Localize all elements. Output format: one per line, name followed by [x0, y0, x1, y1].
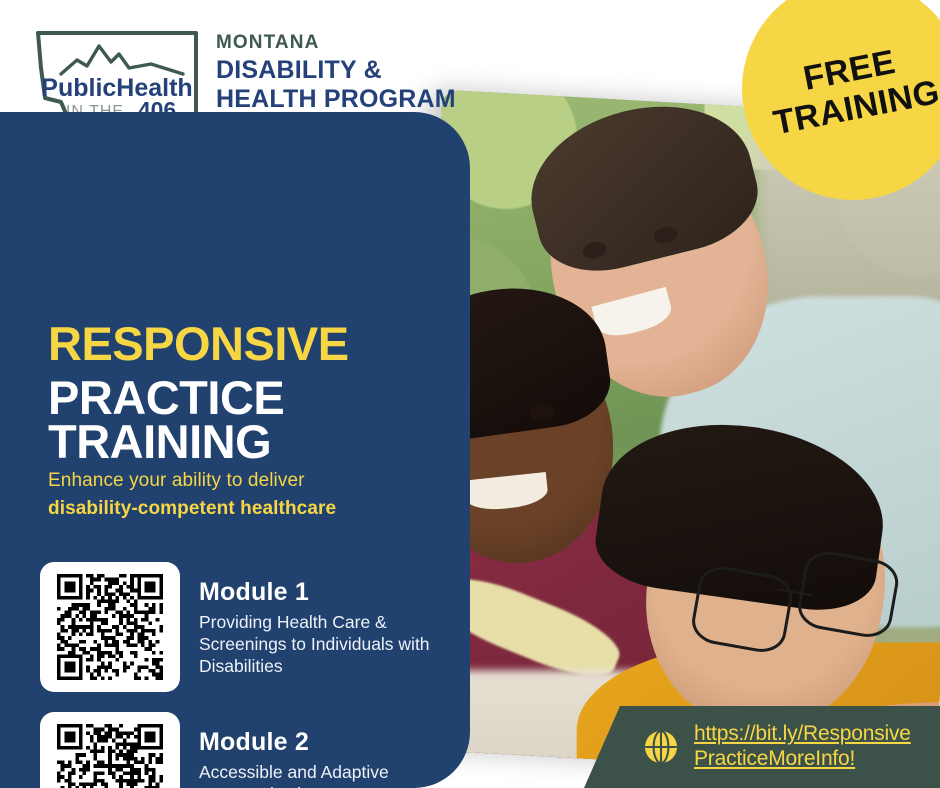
headline-line-3: TRAINING [48, 418, 271, 465]
navy-panel-content: RESPONSIVE PRACTICE TRAINING Enhance you… [0, 112, 470, 788]
organization-name: MONTANA DISABILITY & HEALTH PROGRAM [216, 33, 456, 114]
qr-code-module-2[interactable] [40, 712, 180, 788]
module-row: Module 2 Accessible and Adaptive Communi… [40, 712, 439, 788]
module-title: Module 1 [199, 578, 439, 607]
qr-code-image [57, 574, 163, 680]
url-link[interactable]: https://bit.ly/Responsive PracticeMoreIn… [694, 722, 911, 772]
tagline-line-1: Enhance your ability to deliver [48, 470, 305, 492]
globe-icon [642, 728, 680, 766]
footer-url-bar: https://bit.ly/Responsive PracticeMoreIn… [584, 706, 940, 788]
org-line-montana: MONTANA [216, 33, 456, 52]
org-line-health-program: HEALTH PROGRAM [216, 85, 456, 114]
qr-code-module-1[interactable] [40, 562, 180, 692]
module-description: Providing Health Care & Screenings to In… [199, 611, 439, 677]
tagline-line-2: disability-competent healthcare [48, 498, 336, 520]
qr-code-image [57, 724, 163, 788]
module-text-block: Module 1 Providing Health Care & Screeni… [199, 562, 439, 677]
photo-person-1-eye-right [529, 404, 554, 420]
headline-line-2: PRACTICE [48, 374, 284, 421]
url-line-1[interactable]: https://bit.ly/Responsive [694, 722, 911, 747]
main-navy-panel: RESPONSIVE PRACTICE TRAINING Enhance you… [0, 112, 470, 788]
org-line-disability: DISABILITY & [216, 56, 456, 85]
headline-line-1: RESPONSIVE [48, 320, 349, 367]
module-row: Module 1 Providing Health Care & Screeni… [40, 562, 439, 692]
url-line-2[interactable]: PracticeMoreInfo! [694, 747, 911, 772]
flyer-canvas: RESPONSIVE PRACTICE TRAINING Enhance you… [0, 0, 940, 788]
module-text-block: Module 2 Accessible and Adaptive Communi… [199, 712, 439, 788]
module-title: Module 2 [199, 728, 439, 757]
module-description: Accessible and Adaptive Communication [199, 761, 439, 788]
